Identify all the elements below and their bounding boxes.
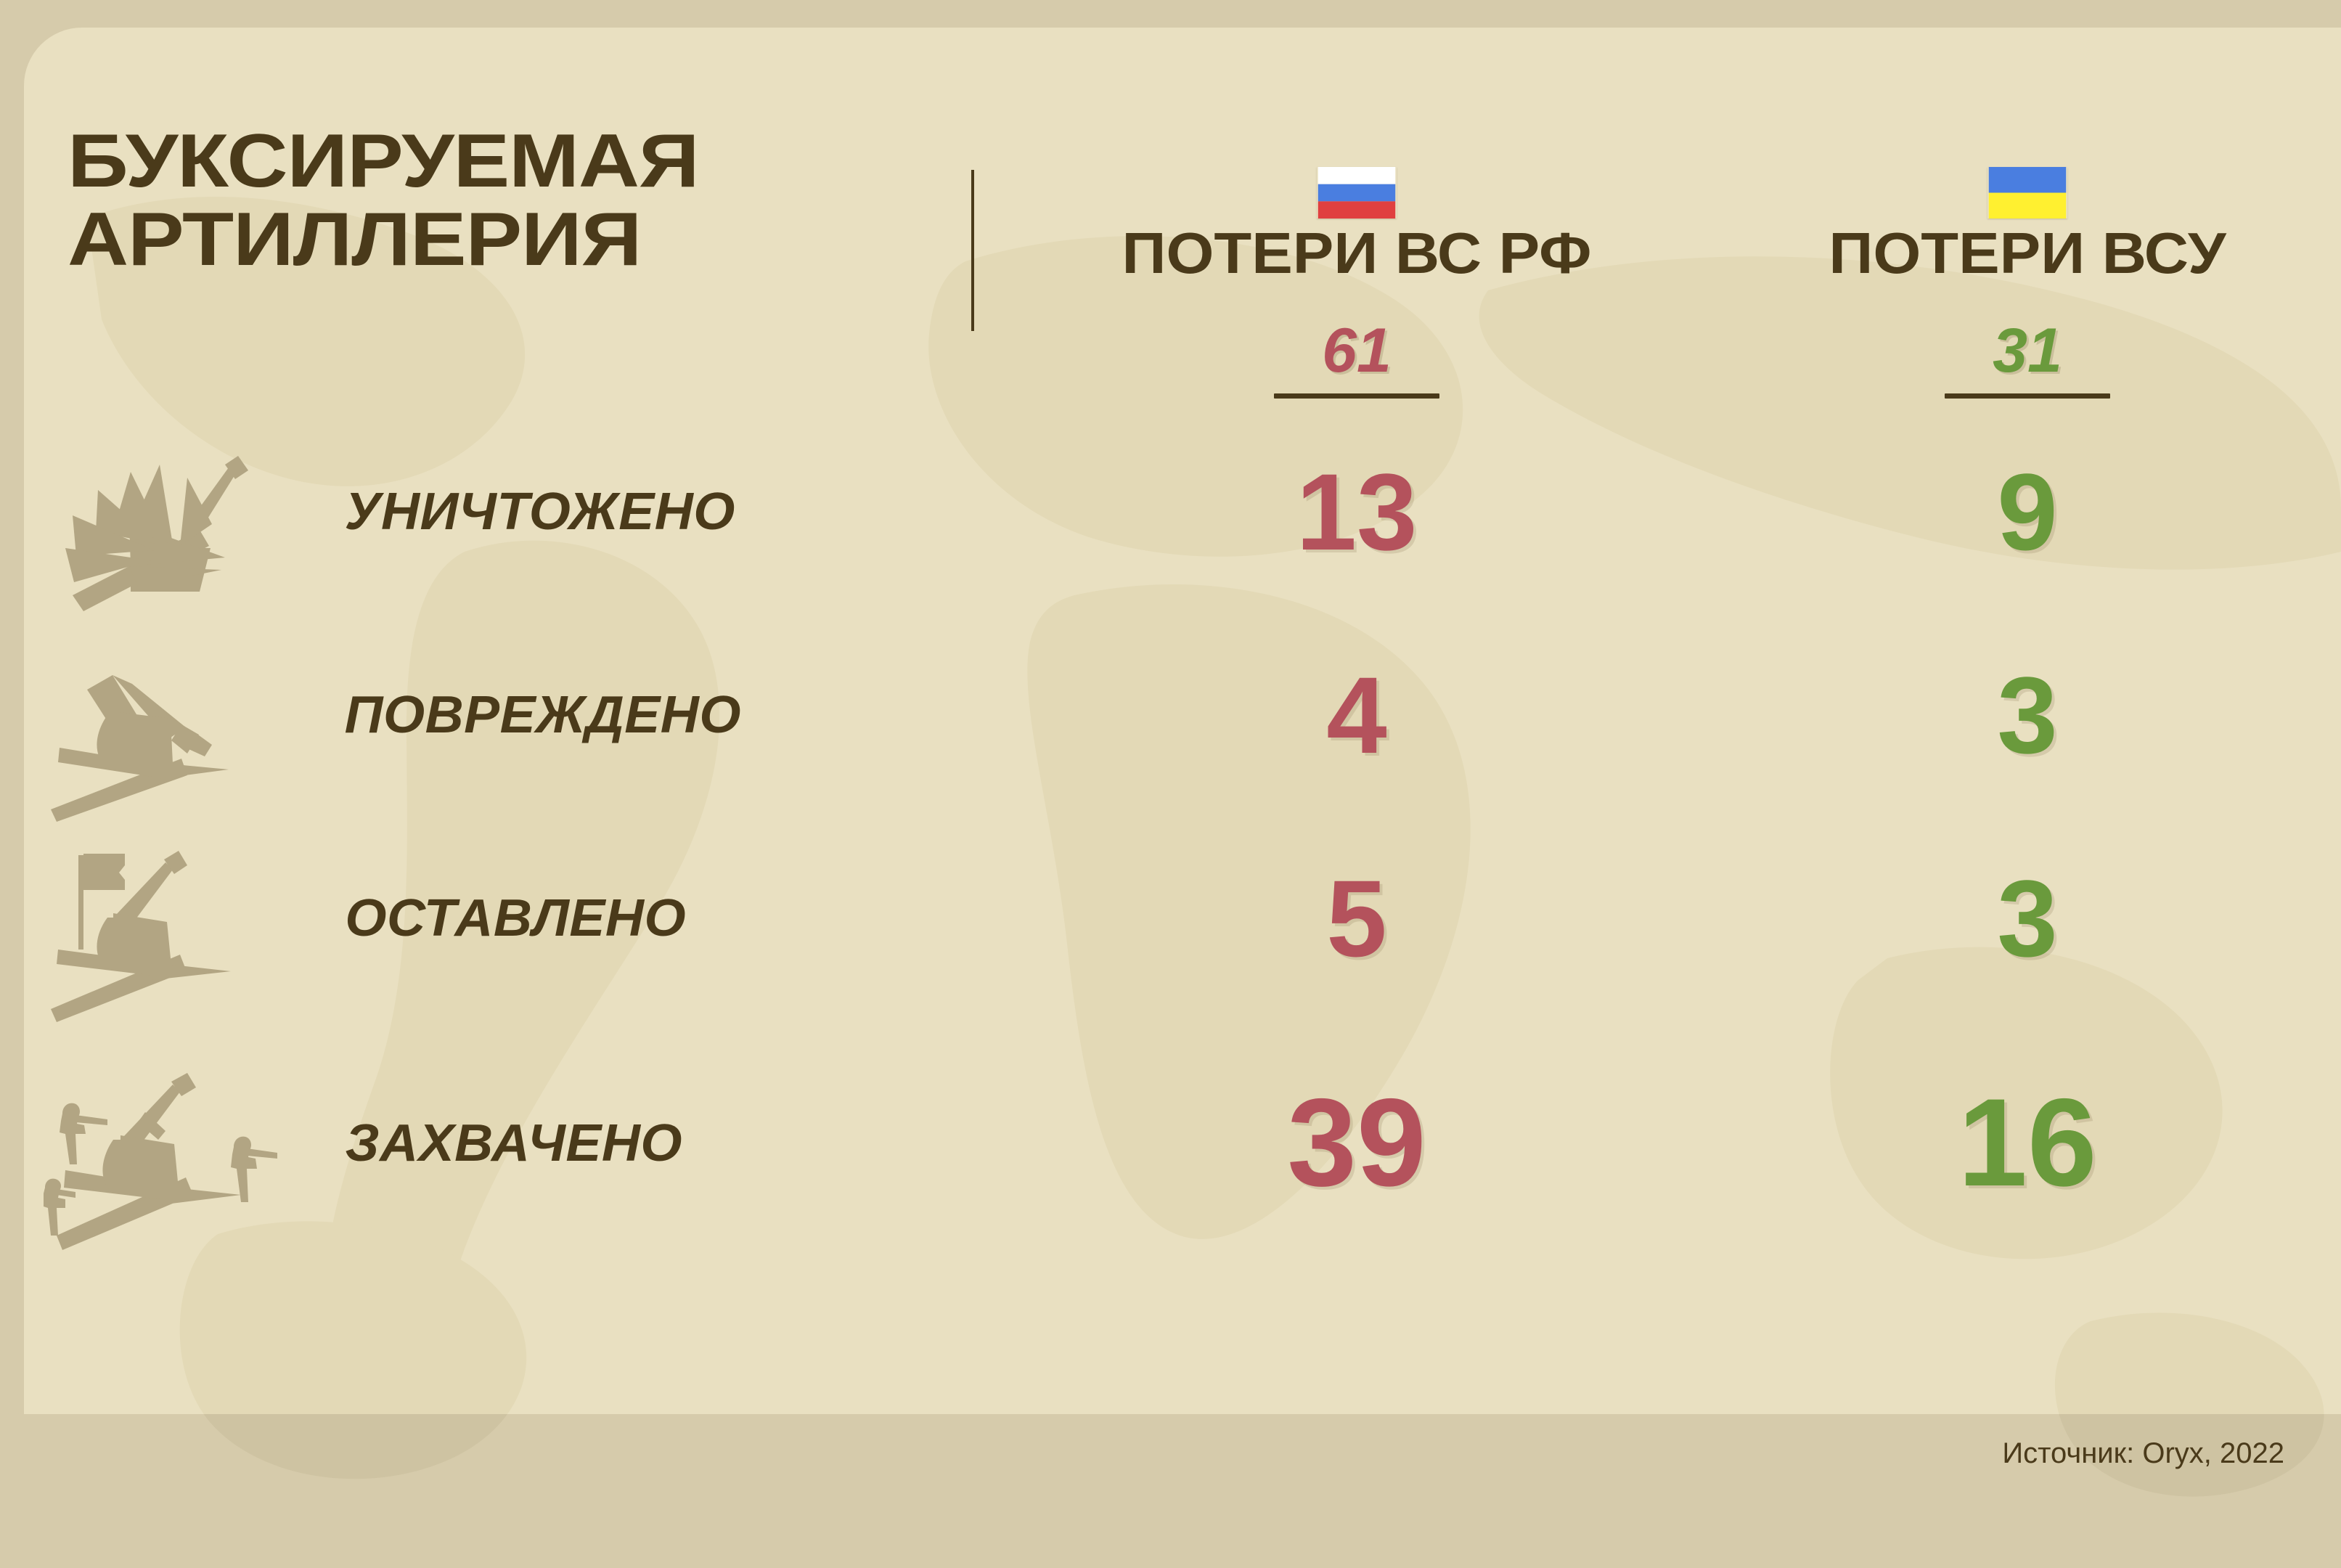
row-label: ПОВРЕЖДЕНО [345, 685, 741, 745]
total-russia-group: 61 [976, 319, 1737, 399]
artillery-captured-soldiers-icon [44, 1053, 348, 1256]
total-ukraine: 31 [1737, 319, 2318, 382]
total-ukraine-group: 31 [1737, 319, 2318, 399]
flag-russia-icon [1317, 167, 1397, 219]
total-russia-underline [1274, 393, 1439, 399]
artillery-abandoned-flag-icon [44, 828, 348, 1031]
cell-russia: 4 [976, 661, 1737, 769]
table-row: ЗАХВАЧЕНО 39 16 [0, 1082, 2341, 1227]
artillery-destroyed-icon [44, 421, 348, 624]
cell-ukraine: 3 [1737, 864, 2318, 973]
cell-russia: 5 [976, 864, 1737, 973]
cell-russia: 39 [976, 1080, 1737, 1205]
cell-ukraine: 9 [1737, 457, 2318, 566]
column-header-russia: ПОТЕРИ ВС РФ [976, 167, 1737, 282]
total-russia: 61 [976, 319, 1737, 382]
row-label: ЗАХВАЧЕНО [345, 1114, 682, 1173]
source-credit: Источник: Oryx, 2022 [2002, 1437, 2284, 1470]
row-label: ОСТАВЛЕНО [345, 889, 686, 948]
table-row: ОСТАВЛЕНО 5 3 [0, 857, 2341, 1002]
table-row: ПОВРЕЖДЕНО 4 3 [0, 653, 2341, 799]
cell-ukraine: 3 [1737, 661, 2318, 769]
title-line-1: БУКСИРУЕМАЯ [68, 125, 1027, 199]
column-title-ukraine: ПОТЕРИ ВСУ [1720, 224, 2335, 282]
cell-ukraine: 16 [1737, 1080, 2318, 1205]
artillery-damaged-icon [44, 624, 348, 828]
page-title: БУКСИРУЕМАЯ АРТИЛЛЕРИЯ [68, 125, 1027, 277]
row-label: УНИЧТОЖЕНО [345, 482, 735, 542]
table-row: УНИЧТОЖЕНО 13 9 [0, 450, 2341, 595]
cell-russia: 13 [976, 457, 1737, 566]
total-ukraine-underline [1945, 393, 2110, 399]
flag-ukraine-icon [1987, 167, 2067, 219]
title-line-2: АРТИЛЛЕРИЯ [68, 203, 1027, 277]
column-header-ukraine: ПОТЕРИ ВСУ [1737, 167, 2318, 282]
column-title-russia: ПОТЕРИ ВС РФ [954, 224, 1760, 282]
